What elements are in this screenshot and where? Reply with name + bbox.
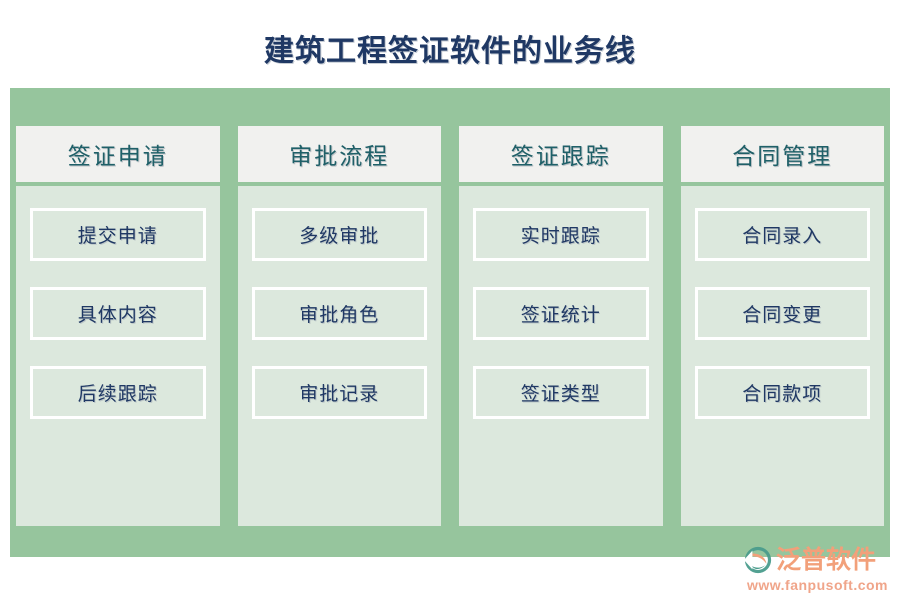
column-header-4[interactable]: 合同管理 — [681, 126, 885, 182]
fanpu-swoosh-icon — [743, 545, 773, 575]
brand-row: 泛普软件 — [743, 545, 876, 575]
column-spacer — [695, 445, 871, 504]
business-line-board: 签证申请 提交申请 具体内容 后续跟踪 审批流程 多级审批 审批角色 审批记录 … — [10, 88, 890, 557]
column-spacer — [30, 445, 206, 504]
column-body-2: 多级审批 审批角色 审批记录 — [238, 186, 442, 526]
brand-watermark: 泛普软件 www.fanpusoft.com — [743, 545, 888, 592]
pipeline-column-2: 审批流程 多级审批 审批角色 审批记录 — [238, 126, 442, 526]
item-box[interactable]: 审批角色 — [252, 287, 428, 340]
item-box[interactable]: 合同录入 — [695, 208, 871, 261]
column-body-1: 提交申请 具体内容 后续跟踪 — [16, 186, 220, 526]
column-header-2[interactable]: 审批流程 — [238, 126, 442, 182]
item-box[interactable]: 后续跟踪 — [30, 366, 206, 419]
item-box[interactable]: 提交申请 — [30, 208, 206, 261]
column-header-3[interactable]: 签证跟踪 — [459, 126, 663, 182]
pipeline-column-1: 签证申请 提交申请 具体内容 后续跟踪 — [16, 126, 220, 526]
pipeline-column-3: 签证跟踪 实时跟踪 签证统计 签证类型 — [459, 126, 663, 526]
brand-name: 泛普软件 — [776, 548, 876, 573]
item-box[interactable]: 合同变更 — [695, 287, 871, 340]
item-box[interactable]: 签证类型 — [473, 366, 649, 419]
column-header-1[interactable]: 签证申请 — [16, 126, 220, 182]
item-box[interactable]: 合同款项 — [695, 366, 871, 419]
column-spacer — [473, 445, 649, 504]
item-box[interactable]: 实时跟踪 — [473, 208, 649, 261]
item-box[interactable]: 具体内容 — [30, 287, 206, 340]
item-box[interactable]: 多级审批 — [252, 208, 428, 261]
column-body-3: 实时跟踪 签证统计 签证类型 — [459, 186, 663, 526]
brand-url: www.fanpusoft.com — [747, 578, 888, 592]
page-title: 建筑工程签证软件的业务线 — [0, 26, 900, 70]
pipeline-column-4: 合同管理 合同录入 合同变更 合同款项 — [681, 126, 885, 526]
column-spacer — [252, 445, 428, 504]
item-box[interactable]: 签证统计 — [473, 287, 649, 340]
column-body-4: 合同录入 合同变更 合同款项 — [681, 186, 885, 526]
item-box[interactable]: 审批记录 — [252, 366, 428, 419]
